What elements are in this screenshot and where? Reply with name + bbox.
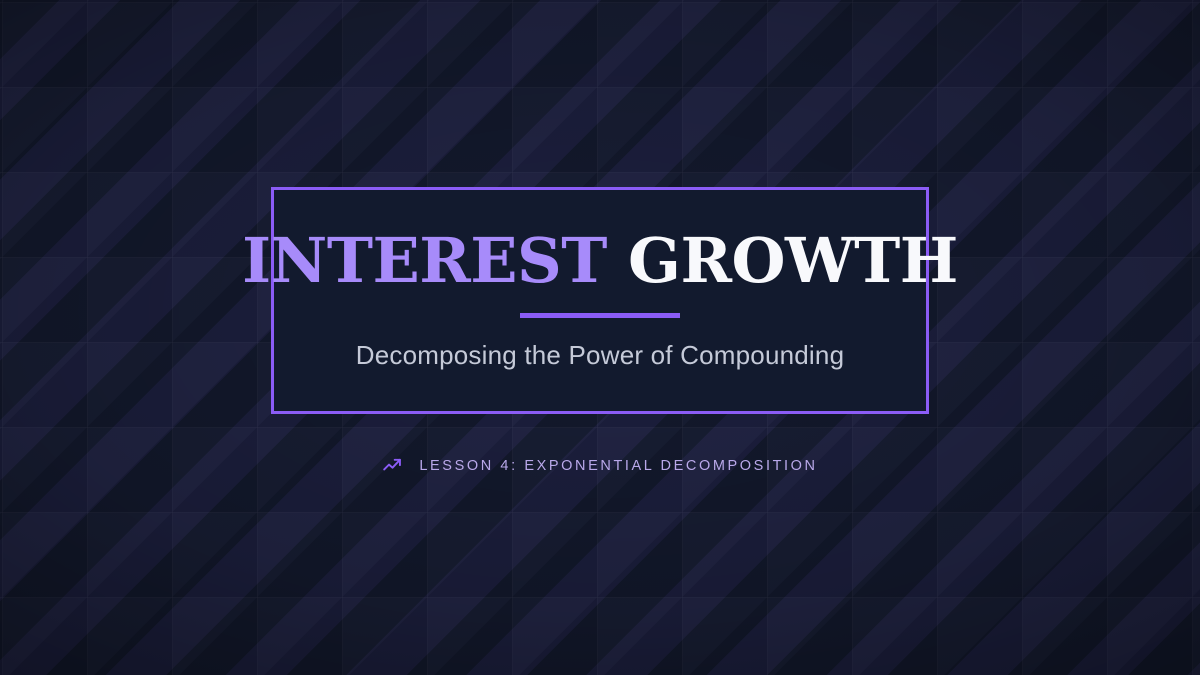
page-title: INTEREST GROWTH — [242, 230, 958, 292]
title-word-primary: INTEREST — [242, 224, 607, 297]
lesson-eyebrow: LESSON 4: EXPONENTIAL DECOMPOSITION — [0, 455, 1200, 476]
title-word-secondary: GROWTH — [628, 224, 958, 297]
title-card: INTEREST GROWTH Decomposing the Power of… — [271, 187, 929, 414]
lesson-label: LESSON 4: EXPONENTIAL DECOMPOSITION — [419, 458, 817, 474]
trending-up-icon — [382, 455, 403, 476]
page-subtitle: Decomposing the Power of Compounding — [356, 340, 844, 371]
title-word-spacer — [607, 224, 628, 297]
title-divider-rule — [520, 313, 680, 318]
title-slide: INTEREST GROWTH Decomposing the Power of… — [0, 0, 1200, 675]
slide-content: INTEREST GROWTH Decomposing the Power of… — [0, 0, 1200, 675]
